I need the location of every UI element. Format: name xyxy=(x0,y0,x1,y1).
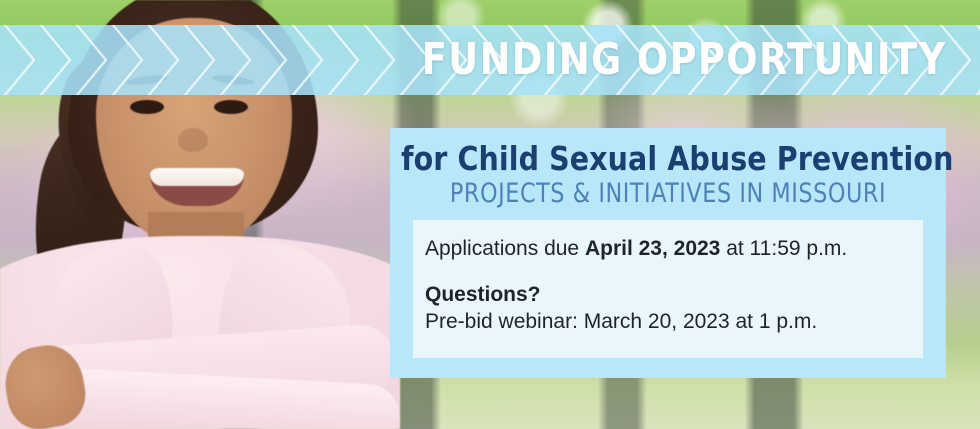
deadline-suffix: at 11:59 p.m. xyxy=(720,237,847,260)
info-card: for Child Sexual Abuse Prevention PROJEC… xyxy=(390,128,946,378)
funding-opportunity-banner: FUNDING OPPORTUNITY for Child Sexual Abu… xyxy=(0,0,980,429)
teeth xyxy=(150,168,244,186)
questions-label: Questions? xyxy=(425,283,541,306)
details-panel: Applications due April 23, 2023 at 11:59… xyxy=(413,220,923,358)
eye-right xyxy=(214,100,248,114)
card-heading: for Child Sexual Abuse Prevention xyxy=(401,140,935,178)
questions-heading: Questions? xyxy=(425,282,923,308)
nose xyxy=(178,128,208,152)
deadline-prefix: Applications due xyxy=(425,237,585,260)
webinar-line: Pre-bid webinar: March 20, 2023 at 1 p.m… xyxy=(425,309,923,335)
card-subheading: PROJECTS & INITIATIVES IN MISSOURI xyxy=(412,179,924,209)
deadline-line: Applications due April 23, 2023 at 11:59… xyxy=(425,236,923,262)
eye-left xyxy=(130,100,164,114)
banner-title: FUNDING OPPORTUNITY xyxy=(69,25,980,95)
deadline-date: April 23, 2023 xyxy=(585,237,720,260)
